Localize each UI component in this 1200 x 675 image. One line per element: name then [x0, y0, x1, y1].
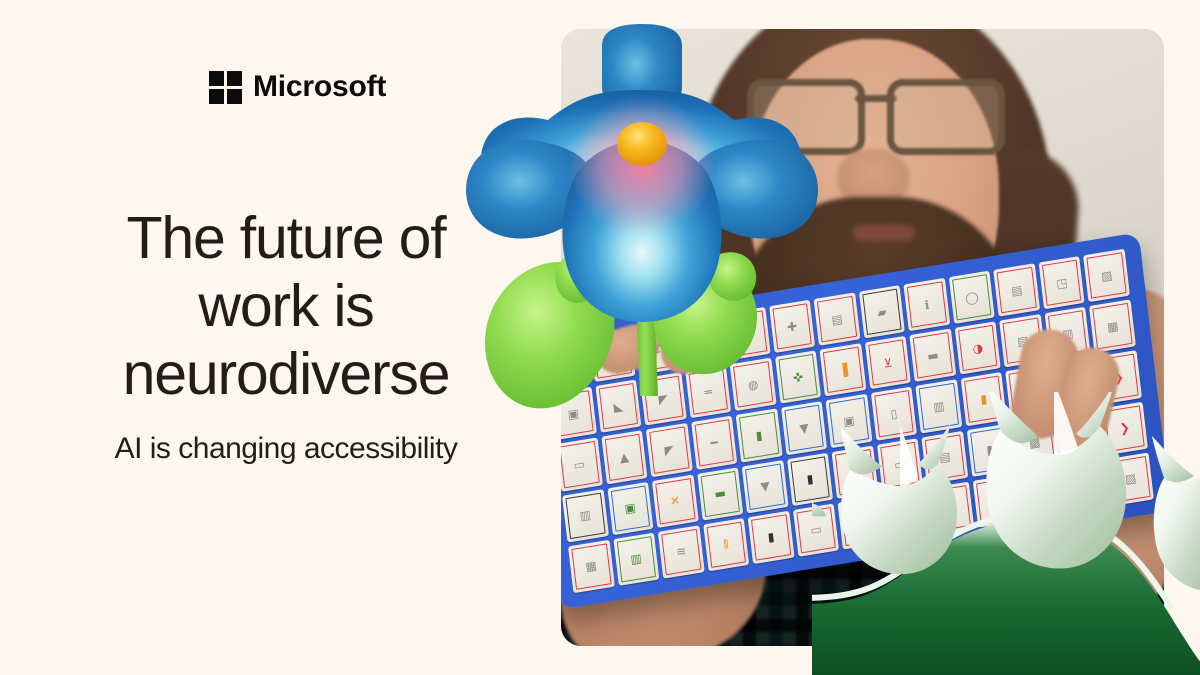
keyboard-key[interactable]: ▐ — [820, 343, 867, 397]
key-symbol-icon: ▮ — [964, 376, 1004, 423]
keyboard-key[interactable]: ◯ — [949, 271, 996, 325]
logo-square-top-left — [209, 71, 224, 86]
keyboard-key[interactable]: ✜ — [775, 351, 822, 405]
headline-line-3: neurodiverse — [40, 341, 532, 409]
key-symbol-icon: ✚ — [772, 303, 812, 350]
keyboard-key[interactable]: ◳ — [1039, 256, 1086, 310]
person-mouth — [853, 225, 915, 241]
key-symbol-icon: ◣ — [598, 383, 638, 430]
key-symbol-icon: ▭ — [796, 507, 836, 554]
microsoft-brand-lockup: Microsoft — [209, 69, 386, 105]
keyboard-key[interactable]: ▣ — [561, 387, 597, 441]
keyboard-key[interactable]: ▮ — [736, 409, 783, 463]
key-symbol-icon: ≡ — [841, 499, 881, 546]
keyboard-key[interactable]: ▮ — [787, 452, 834, 506]
keyboard-key[interactable]: ◤ — [640, 372, 687, 426]
keyboard-key[interactable]: ◤ — [646, 423, 693, 477]
key-symbol-icon: ▦ — [1093, 303, 1133, 350]
keyboard-key[interactable]: ▯ — [871, 387, 918, 441]
keyboard-key[interactable]: ◍ — [730, 358, 777, 412]
key-symbol-icon: ━ — [694, 420, 734, 467]
keyboard-key[interactable]: ━ — [691, 416, 738, 470]
key-symbol-icon: ≡ — [835, 449, 875, 496]
key-symbol-icon: ▼ — [745, 463, 785, 510]
key-symbol-icon: ◤ — [649, 427, 689, 474]
keyboard-key[interactable]: ▭ — [561, 438, 603, 492]
logo-square-bottom-left — [209, 89, 224, 104]
keyboard-key[interactable]: ✚ — [769, 300, 816, 354]
keyboard-key[interactable]: ▥ — [916, 380, 963, 434]
key-symbol-icon: ◀▶ — [561, 340, 587, 387]
keyboard-key[interactable]: ▼ — [742, 460, 789, 514]
key-symbol-icon: ▣ — [561, 390, 593, 437]
keyboard-key[interactable]: ▦ — [1018, 467, 1065, 521]
key-symbol-icon: ▣ — [610, 485, 650, 532]
key-symbol-icon: ⦀ — [706, 521, 746, 568]
microsoft-squares-icon — [209, 71, 242, 104]
keyboard-key[interactable]: ▭ — [877, 438, 924, 492]
key-symbol-icon: ⊻ — [868, 339, 908, 386]
logo-square-top-right — [227, 71, 242, 86]
keyboard-key[interactable]: ◀▶ — [561, 336, 591, 390]
key-symbol-icon: ▮ — [970, 427, 1010, 474]
key-symbol-icon: ◑ — [958, 325, 998, 372]
keyboard-key[interactable]: ◣ — [595, 380, 642, 434]
key-symbol-icon: ▤ — [925, 434, 965, 481]
key-symbol-icon: ▭ — [880, 441, 920, 488]
keyboard-key[interactable]: ▰ — [859, 285, 906, 339]
headline-line-2: work is — [40, 273, 532, 341]
keyboard-key[interactable]: ⦀ — [703, 518, 750, 572]
keyboard-key[interactable]: ◑ — [955, 321, 1002, 375]
key-symbol-icon: ▬ — [913, 332, 953, 379]
key-symbol-icon: ◳ — [1042, 259, 1082, 306]
keyboard-key[interactable]: ≡ — [832, 445, 879, 499]
glasses-left-lens — [747, 79, 865, 155]
key-symbol-icon: ▥ — [976, 478, 1016, 525]
page-title: The future of work is neurodiverse — [40, 205, 532, 409]
key-symbol-icon: ▨ — [1087, 252, 1127, 299]
key-symbol-icon: ≋ — [661, 529, 701, 576]
keyboard-key[interactable]: ▣ — [928, 481, 975, 535]
glasses-right-lens — [887, 79, 1005, 155]
key-symbol-icon: ▦ — [571, 543, 611, 590]
keyboard-key[interactable]: ❮ — [1062, 460, 1109, 514]
key-symbol-icon: ◯ — [952, 274, 992, 321]
keyboard-key[interactable]: ▦ — [568, 540, 615, 594]
key-symbol-icon: ▦ — [1021, 470, 1061, 517]
key-symbol-icon: ✛ — [727, 310, 767, 357]
keyboard-key[interactable]: ▤ — [883, 489, 930, 543]
keyboard-key[interactable]: ▮ — [961, 372, 1008, 426]
keyboard-key[interactable]: ✕ — [652, 474, 699, 528]
copy-block: The future of work is neurodiverse AI is… — [40, 205, 532, 467]
key-symbol-icon: ✜ — [778, 354, 818, 401]
key-symbol-icon: ▥ — [616, 536, 656, 583]
keyboard-key[interactable]: ▦ — [1089, 300, 1136, 354]
key-symbol-icon: ▰ — [862, 289, 902, 336]
key-symbol-icon: ▮ — [790, 456, 830, 503]
key-symbol-icon: ▼ — [784, 405, 824, 452]
keyboard-key[interactable]: ▤ — [922, 431, 969, 485]
keyboard-key[interactable]: ▤ — [814, 292, 861, 346]
key-symbol-icon: ◍ — [733, 361, 773, 408]
key-symbol-icon: ═ — [688, 369, 728, 416]
key-symbol-icon: ▤ — [886, 492, 926, 539]
key-symbol-icon: ◤ — [643, 376, 683, 423]
key-symbol-icon: ▭ — [561, 441, 599, 488]
keyboard-key[interactable]: ≋ — [658, 525, 705, 579]
keyboard-key[interactable]: ≡ — [838, 496, 885, 550]
microsoft-wordmark: Microsoft — [253, 72, 386, 102]
key-symbol-icon: ❮ — [1066, 463, 1106, 510]
key-symbol-icon: ▤ — [997, 267, 1037, 314]
key-symbol-icon: ▥ — [919, 383, 959, 430]
ad-canvas: Microsoft The future of work is neurodiv… — [0, 0, 1200, 675]
hero-photo: ◀▶◎⊻▮▯✛✚▤▰ℹ◯▤◳▨▣◣◤═◍✜▐⊻▬◑▤▥▦▭▲◤━▮▼▣▯▥▮✚▤… — [561, 29, 1164, 646]
logo-square-bottom-right — [227, 89, 242, 104]
keyboard-key[interactable]: ℹ — [904, 278, 951, 332]
key-symbol-icon: ℹ — [907, 281, 947, 328]
keyboard-key[interactable]: ▬ — [697, 467, 744, 521]
keyboard-key[interactable]: ═ — [685, 365, 732, 419]
keyboard-key[interactable]: ▲ — [601, 431, 648, 485]
key-symbol-icon: ▣ — [829, 398, 869, 445]
keyboard-key[interactable]: ⊻ — [865, 336, 912, 390]
key-symbol-icon: ▣ — [931, 485, 971, 532]
keyboard-key[interactable]: ▤ — [994, 263, 1041, 317]
key-symbol-icon: ▐ — [823, 347, 863, 394]
keyboard-key[interactable]: ▥ — [562, 489, 609, 543]
keyboard-key[interactable]: ▭ — [793, 503, 840, 557]
headline-line-1: The future of — [40, 205, 532, 273]
key-symbol-icon: ▬ — [700, 470, 740, 517]
key-symbol-icon: ▮ — [739, 412, 779, 459]
keyboard-key[interactable]: ▮ — [967, 423, 1014, 477]
key-symbol-icon: ▥ — [565, 492, 605, 539]
keyboard-key[interactable]: ▥ — [973, 474, 1020, 528]
keyboard-key[interactable]: ▬ — [910, 329, 957, 383]
key-symbol-icon: ▨ — [1111, 456, 1151, 503]
key-symbol-icon: ▤ — [817, 296, 857, 343]
keyboard-key[interactable]: ▥ — [613, 532, 660, 586]
eyeglasses-icon — [745, 79, 1007, 145]
keyboard-key[interactable]: ▮ — [748, 511, 795, 565]
keyboard-key[interactable]: ▼ — [781, 401, 828, 455]
keyboard-key[interactable]: ▨ — [1107, 452, 1154, 506]
keyboard-key[interactable]: ▨ — [1083, 249, 1130, 303]
keyboard-key[interactable]: ▣ — [826, 394, 873, 448]
key-symbol-icon: ▯ — [874, 390, 914, 437]
keyboard-key[interactable]: ✛ — [724, 307, 771, 361]
key-symbol-icon: ▮ — [751, 514, 791, 561]
page-subtitle: AI is changing accessibility — [40, 431, 532, 467]
key-symbol-icon: ✕ — [655, 478, 695, 525]
keyboard-key[interactable]: ▣ — [607, 482, 654, 536]
key-symbol-icon: ▲ — [604, 434, 644, 481]
